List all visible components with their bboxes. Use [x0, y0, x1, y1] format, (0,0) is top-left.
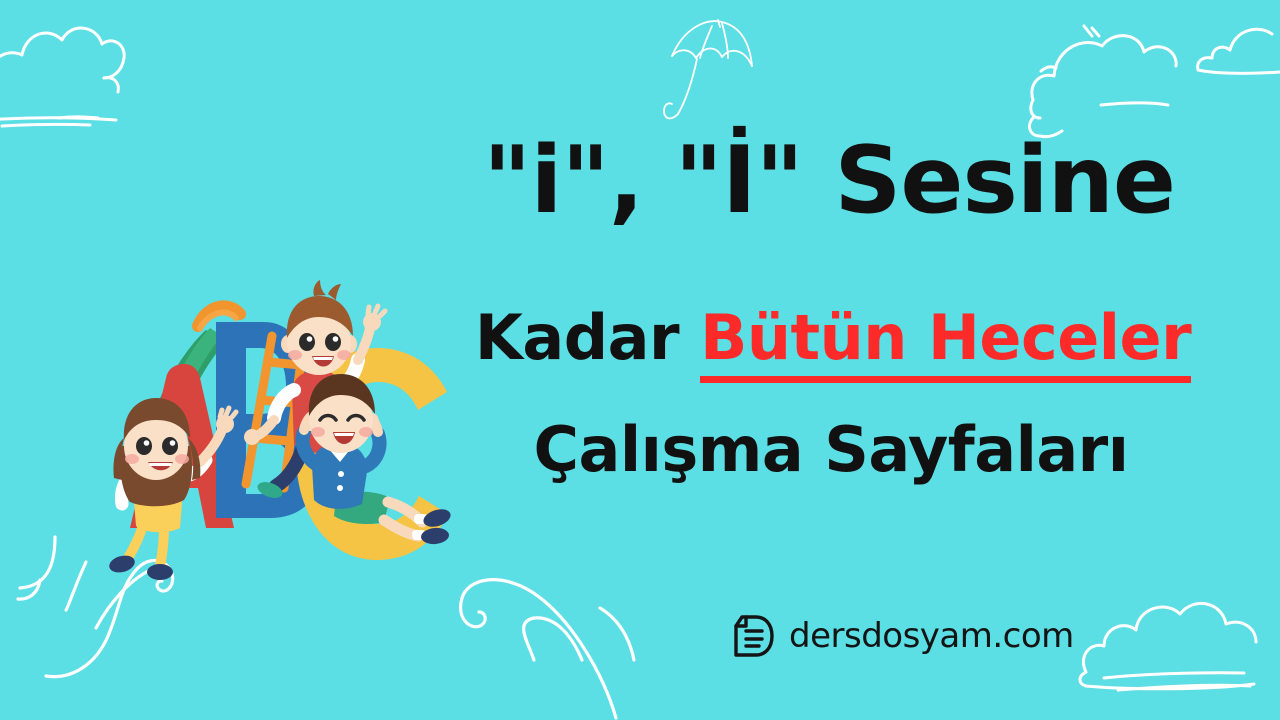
watermark: dersdosyam.com — [727, 612, 1074, 660]
headline-block: "i", "İ" Sesine Kadar Bütün Heceler Çalı… — [400, 130, 1240, 485]
title-line-2-highlight: Bütün Heceler — [700, 301, 1191, 383]
umbrella-icon — [664, 20, 752, 118]
poster-canvas: "i", "İ" Sesine Kadar Bütün Heceler Çalı… — [0, 0, 1280, 720]
title-line-1: "i", "İ" Sesine — [418, 130, 1240, 230]
title-line-2: Kadar Bütün Heceler — [426, 302, 1240, 373]
cloud-bottom-right-icon — [1080, 603, 1256, 690]
cloud-top-left-icon — [0, 28, 124, 126]
cloud-top-right-small-icon — [1198, 29, 1280, 73]
watermark-text: dersdosyam.com — [789, 616, 1074, 656]
swirl-bottom-center-icon — [461, 580, 634, 718]
cloud-top-right-large-icon — [1029, 26, 1176, 137]
document-icon — [727, 612, 775, 660]
title-line-3: Çalışma Sayfaları — [422, 414, 1240, 485]
title-line-2-prefix: Kadar — [475, 301, 700, 374]
